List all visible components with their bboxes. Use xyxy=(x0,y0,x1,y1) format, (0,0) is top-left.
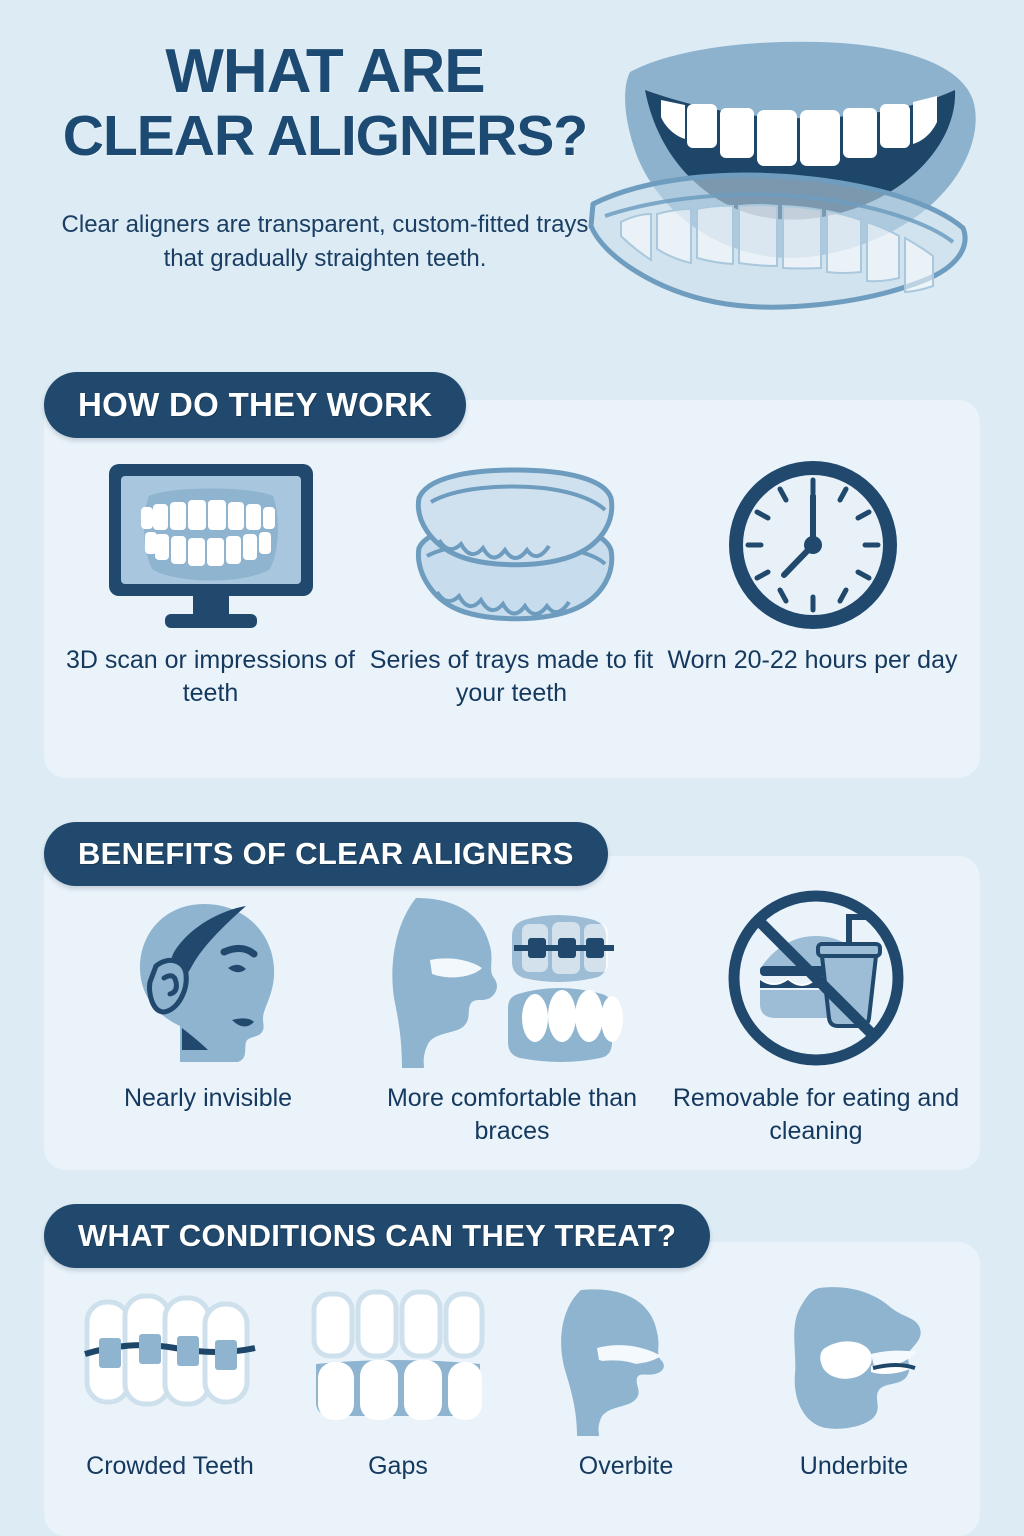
stacked-aligner-trays-icon xyxy=(397,460,627,630)
title-line-2: CLEAR ALIGNERS? xyxy=(60,107,590,165)
page-title: WHAT ARE CLEAR ALIGNERS? xyxy=(60,40,590,165)
title-line-1: WHAT ARE xyxy=(60,40,590,103)
gapped-teeth-icon xyxy=(308,1286,488,1436)
section-items: Nearly invisible xyxy=(56,900,968,1148)
item-wear-time: Worn 20-22 hours per day xyxy=(662,460,963,710)
section-benefits-of-clear-aligners: BENEFITS OF CLEAR ALIGNERS xyxy=(0,800,1024,1180)
crowded-teeth-braces-icon xyxy=(75,1286,265,1436)
item-caption: Gaps xyxy=(368,1450,428,1483)
item-caption: Series of trays made to fit your teeth xyxy=(361,644,662,710)
section-heading-how-do-they-work: HOW DO THEY WORK xyxy=(44,372,466,438)
face-profile-with-braces-teeth-icon xyxy=(372,900,652,1068)
item-underbite: Underbite xyxy=(740,1286,968,1483)
page-subtitle: Clear aligners are transparent, custom-f… xyxy=(60,208,590,276)
item-nearly-invisible: Nearly invisible xyxy=(56,900,360,1148)
item-caption: Removable for eating and cleaning xyxy=(664,1082,968,1148)
item-caption: Underbite xyxy=(800,1450,908,1483)
section-how-do-they-work: HOW DO THEY WORK xyxy=(0,360,1024,790)
underbite-profile-icon xyxy=(779,1286,929,1436)
section-heading-benefits: BENEFITS OF CLEAR ALIGNERS xyxy=(44,822,608,886)
section-heading-conditions: WHAT CONDITIONS CAN THEY TREAT? xyxy=(44,1204,710,1268)
item-gaps: Gaps xyxy=(284,1286,512,1483)
item-caption: Overbite xyxy=(579,1450,673,1483)
section-items: Crowded Teeth xyxy=(56,1286,968,1483)
item-removable: Removable for eating and cleaning xyxy=(664,900,968,1148)
item-caption: 3D scan or impressions of teeth xyxy=(60,644,361,710)
item-caption: Crowded Teeth xyxy=(86,1450,254,1483)
monitor-3d-scan-icon xyxy=(101,460,321,630)
item-more-comfortable: More comfortable than braces xyxy=(360,900,664,1148)
item-caption: More comfortable than braces xyxy=(360,1082,664,1148)
item-series-of-trays: Series of trays made to fit your teeth xyxy=(361,460,662,710)
item-overbite: Overbite xyxy=(512,1286,740,1483)
head-profile-icon xyxy=(118,900,298,1068)
item-caption: Worn 20-22 hours per day xyxy=(668,644,958,677)
clock-icon xyxy=(728,460,898,630)
section-items: 3D scan or impressions of teeth xyxy=(60,460,964,710)
section-what-conditions-can-they-treat: WHAT CONDITIONS CAN THEY TREAT? xyxy=(0,1180,1024,1536)
overbite-profile-icon xyxy=(551,1286,701,1436)
smiling-mouth-with-clear-aligner-tray-icon xyxy=(575,28,1015,358)
item-3d-scan: 3D scan or impressions of teeth xyxy=(60,460,361,710)
item-caption: Nearly invisible xyxy=(124,1082,292,1115)
item-crowded-teeth: Crowded Teeth xyxy=(56,1286,284,1483)
header: WHAT ARE CLEAR ALIGNERS? Clear aligners … xyxy=(0,0,1024,360)
no-food-drink-icon xyxy=(726,900,906,1068)
